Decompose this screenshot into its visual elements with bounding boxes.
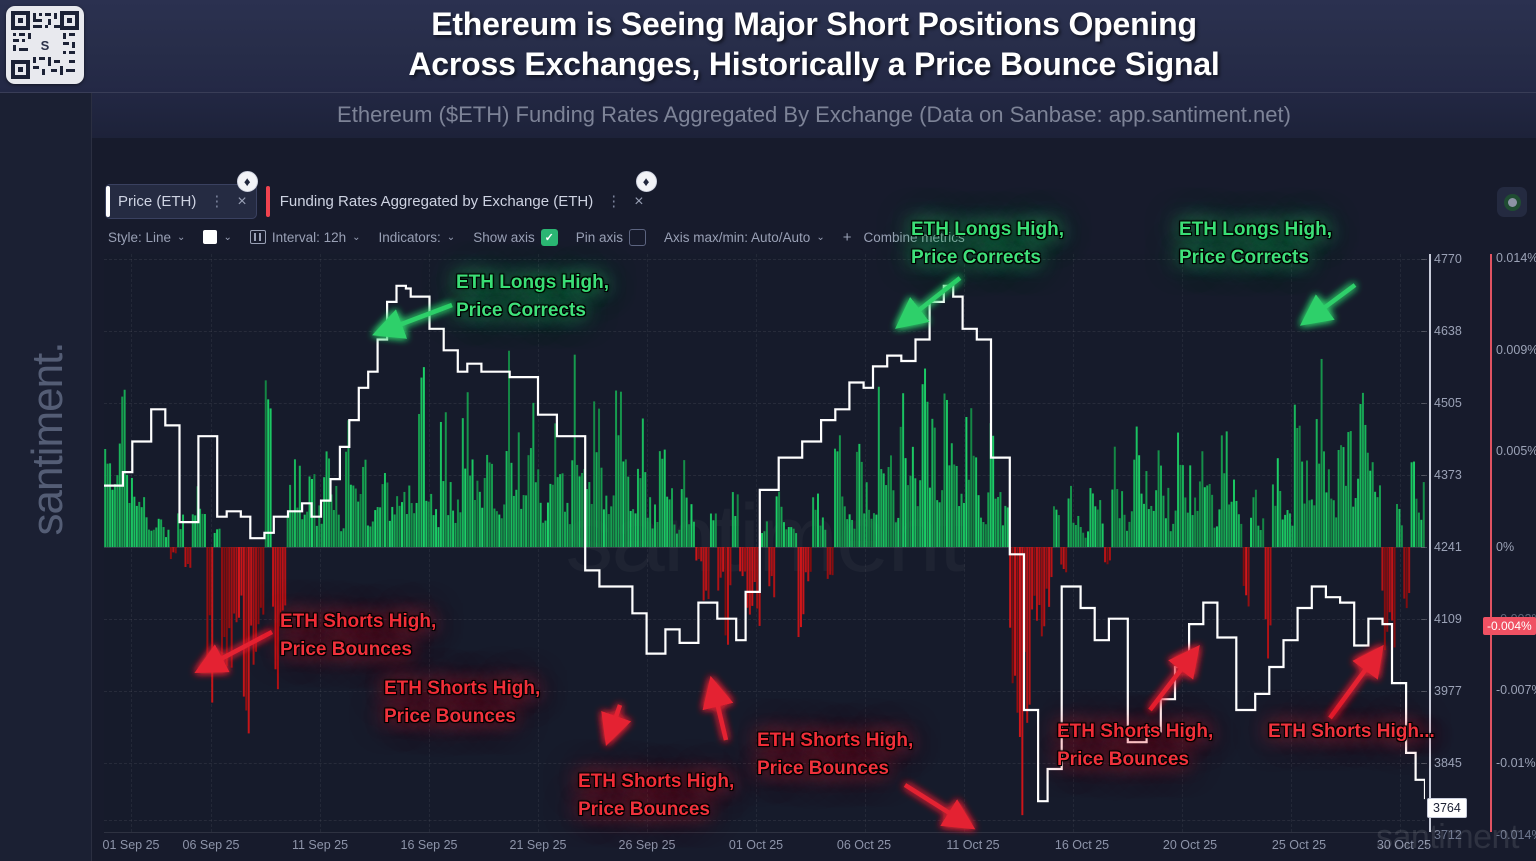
rate-tick-6: -0.01% — [1496, 756, 1536, 770]
qr-eye-tr — [60, 11, 79, 30]
x-tick-2: 11 Sep 25 — [292, 838, 348, 852]
title-line-2: Across Exchanges, Historically a Price B… — [92, 44, 1536, 84]
annotation-green-2: ETH Longs High, Price Corrects — [911, 216, 1064, 272]
x-tick-9: 16 Oct 25 — [1055, 838, 1109, 852]
tab-price-label: Price (ETH) — [118, 193, 196, 210]
chevron-down-icon-indicators: ⌄ — [447, 232, 455, 243]
style-label: Style: Line — [108, 230, 171, 245]
indicators-selector[interactable]: Indicators: ⌄ — [379, 230, 456, 245]
rate-current-badge: -0.004% — [1483, 617, 1536, 635]
tab-price-close-icon[interactable]: × — [237, 193, 246, 211]
pin-axis-label: Pin axis — [576, 230, 623, 245]
screenshot-root: Ethereum is Seeing Major Short Positions… — [0, 0, 1536, 861]
annotation-green-1: ETH Longs High, Price Corrects — [456, 269, 609, 325]
annotation-red-4: ETH Shorts High, Price Bounces — [757, 727, 913, 783]
tab-funding-close-icon[interactable]: × — [634, 193, 643, 211]
x-tick-5: 26 Sep 25 — [619, 838, 676, 852]
plus-icon: + — [843, 229, 852, 246]
pin-axis-checkbox[interactable] — [629, 229, 646, 246]
color-swatch — [203, 230, 217, 244]
price-tick-2: 4505 — [1434, 396, 1462, 410]
interval-selector[interactable]: Interval: 12h ⌄ — [250, 230, 361, 245]
x-tick-1: 06 Sep 25 — [183, 838, 240, 852]
axis-minmax-selector[interactable]: Axis max/min: Auto/Auto ⌄ — [664, 230, 825, 245]
x-tick-7: 06 Oct 25 — [837, 838, 891, 852]
funding-axis-track[interactable] — [1490, 254, 1492, 832]
santiment-watermark-left: santiment. — [2, 299, 94, 579]
price-current-badge: 3764 — [1427, 798, 1467, 818]
style-selector[interactable]: Style: Line ⌄ — [108, 230, 185, 245]
price-tick-5: 4109 — [1434, 612, 1462, 626]
tab-price-eth[interactable]: Price (ETH) ⋮ × ♦ — [105, 184, 257, 219]
ethereum-logo-icon-2: ♦ — [636, 171, 657, 192]
annotation-red-1: ETH Shorts High, Price Bounces — [280, 608, 436, 664]
rate-tick-1: 0.009% — [1496, 343, 1536, 357]
left-rail: santiment. — [0, 93, 92, 861]
annotation-red-5: ETH Shorts High, Price Bounces — [1057, 718, 1213, 774]
header-banner: Ethereum is Seeing Major Short Positions… — [0, 0, 1536, 93]
chevron-down-icon-style: ⌄ — [177, 232, 185, 243]
annotation-green-3: ETH Longs High, Price Corrects — [1179, 216, 1332, 272]
x-tick-6: 01 Oct 25 — [729, 838, 783, 852]
show-axis-checkbox[interactable]: ✓ — [541, 229, 558, 246]
show-axis-toggle[interactable]: Show axis ✓ — [473, 229, 558, 246]
calendar-icon — [250, 230, 266, 244]
page-title: Ethereum is Seeing Major Short Positions… — [92, 4, 1536, 84]
tab-funding-rates[interactable]: Funding Rates Aggregated by Exchange (ET… — [265, 184, 654, 219]
metric-tabs: Price (ETH) ⋮ × ♦ Funding Rates Aggregat… — [105, 184, 654, 219]
qr-code[interactable]: S — [6, 6, 84, 84]
price-tick-0: 4770 — [1434, 252, 1462, 266]
ethereum-logo-icon-1: ♦ — [237, 171, 258, 192]
x-tick-8: 11 Oct 25 — [946, 838, 999, 852]
indicators-label: Indicators: — [379, 230, 441, 245]
x-tick-10: 20 Oct 25 — [1163, 838, 1217, 852]
santiment-watermark-bottom-right: santiment — [1376, 818, 1519, 857]
price-tick-1: 4638 — [1434, 324, 1462, 338]
rate-tick-0: 0.014% — [1496, 251, 1536, 265]
rate-tick-2: 0.005% — [1496, 444, 1536, 458]
tab-funding-label: Funding Rates Aggregated by Exchange (ET… — [280, 193, 594, 210]
rate-tick-3: 0% — [1496, 540, 1514, 554]
price-tick-4: 4241 — [1434, 540, 1462, 554]
qr-eye-tl — [11, 11, 30, 30]
x-tick-0: 01 Sep 25 — [103, 838, 160, 852]
x-axis-line — [104, 832, 1425, 833]
qr-code-pattern: S — [11, 11, 79, 79]
chevron-down-icon-axis: ⌄ — [816, 232, 824, 243]
annotation-red-2: ETH Shorts High, Price Bounces — [384, 675, 540, 731]
tab-funding-menu-icon[interactable]: ⋮ — [606, 197, 622, 207]
annotation-red-3: ETH Shorts High, Price Bounces — [578, 768, 734, 824]
title-line-1: Ethereum is Seeing Major Short Positions… — [92, 4, 1536, 44]
qr-center-logo: S — [34, 34, 56, 56]
pin-axis-toggle[interactable]: Pin axis — [576, 229, 646, 246]
tab-price-accent — [106, 186, 110, 217]
price-tick-6: 3977 — [1434, 684, 1462, 698]
chevron-down-icon-interval: ⌄ — [352, 232, 360, 243]
x-tick-3: 16 Sep 25 — [401, 838, 458, 852]
x-tick-11: 25 Oct 25 — [1272, 838, 1326, 852]
price-tick-7: 3845 — [1434, 756, 1462, 770]
color-selector[interactable]: ⌄ — [203, 230, 231, 244]
tab-funding-accent — [266, 186, 270, 217]
page-subtitle: Ethereum ($ETH) Funding Rates Aggregated… — [92, 99, 1536, 131]
axis-minmax-label: Axis max/min: Auto/Auto — [664, 230, 810, 245]
show-axis-label: Show axis — [473, 230, 535, 245]
annotation-red-6: ETH Shorts High... — [1268, 718, 1435, 746]
chart-options-toolbar: Style: Line ⌄ ⌄ Interval: 12h ⌄ Indicato… — [108, 226, 983, 248]
tab-price-menu-icon[interactable]: ⋮ — [209, 197, 225, 207]
qr-eye-bl — [11, 60, 30, 79]
x-tick-4: 21 Sep 25 — [510, 838, 567, 852]
chevron-down-icon-color: ⌄ — [223, 232, 231, 243]
interval-label: Interval: 12h — [272, 230, 346, 245]
price-tick-3: 4373 — [1434, 468, 1462, 482]
settings-dot-button[interactable] — [1497, 187, 1527, 217]
rate-tick-5: -0.007% — [1496, 683, 1536, 697]
